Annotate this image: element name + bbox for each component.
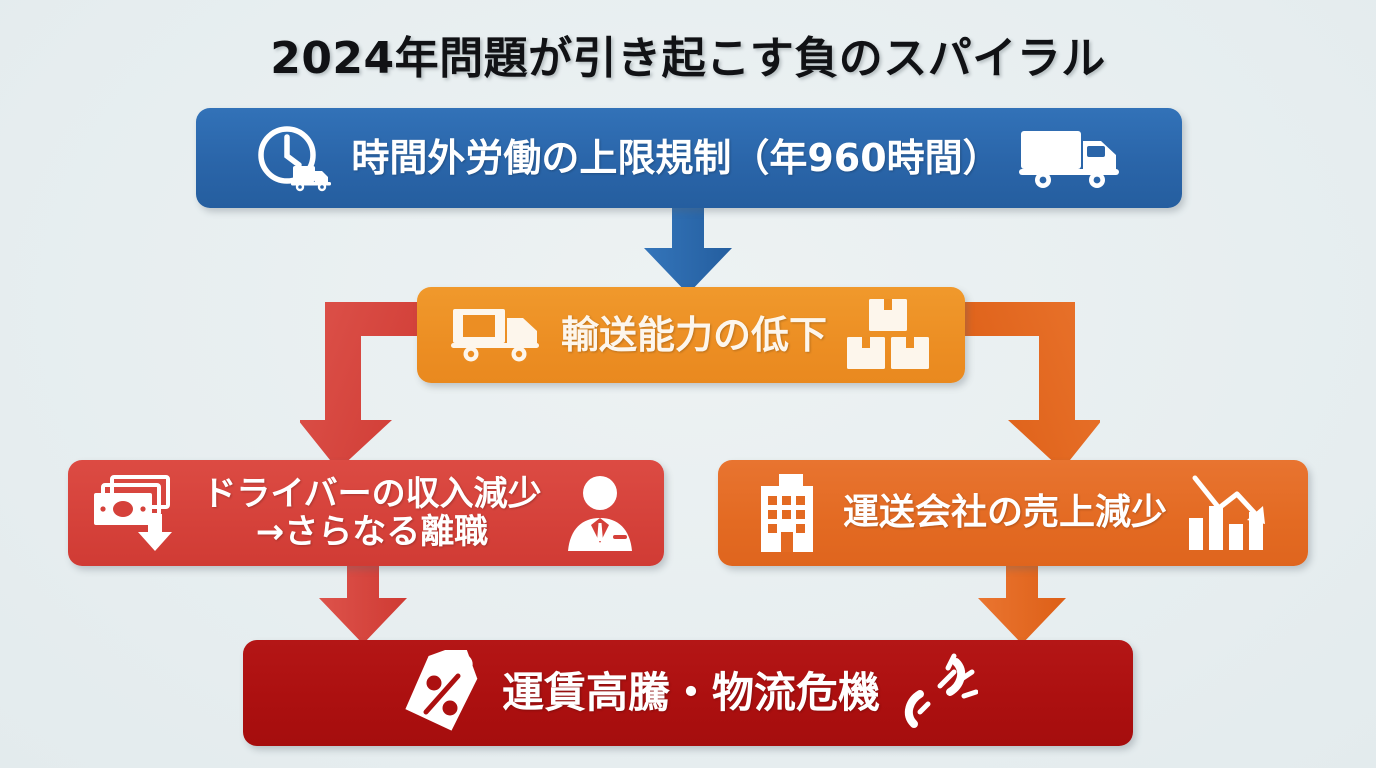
box-truck-icon: [451, 306, 543, 364]
node-transport-capacity-decline[interactable]: 輸送能力の低下: [417, 287, 965, 383]
clock-truck-icon: [255, 124, 333, 192]
broken-chain-icon: [898, 652, 978, 734]
declining-chart-icon: [1185, 474, 1273, 552]
node-label-driver-income-decline: ドライバーの収入減少 →さらなる離職: [202, 475, 541, 551]
node-label-overtime-regulation: 時間外労働の上限規制（年960時間）: [351, 137, 1000, 180]
node-company-revenue-decline[interactable]: 運送会社の売上減少: [718, 460, 1308, 566]
price-tag-icon: [398, 650, 484, 736]
office-building-icon: [753, 472, 825, 554]
node-overtime-regulation[interactable]: 時間外労働の上限規制（年960時間）: [196, 108, 1182, 208]
node-label-transport-capacity-decline: 輸送能力の低下: [561, 314, 827, 357]
infographic-canvas: 2024年問題が引き起こす負のスパイラル: [0, 0, 1376, 768]
packages-icon: [845, 297, 931, 373]
node-label-freight-cost-logistics-crisis: 運賃高騰・物流危機: [502, 669, 880, 716]
arrow-regulation-to-capacity: [628, 198, 748, 298]
node-freight-cost-logistics-crisis[interactable]: 運賃高騰・物流危機: [243, 640, 1133, 746]
arrow-income-to-crisis: [303, 552, 423, 648]
truck-icon: [1019, 127, 1123, 189]
arrow-revenue-to-crisis: [962, 552, 1082, 648]
page-title: 2024年問題が引き起こす負のスパイラル: [0, 22, 1376, 86]
money-down-icon: [92, 472, 184, 554]
node-driver-income-decline[interactable]: ドライバーの収入減少 →さらなる離職: [68, 460, 664, 566]
node-label-company-revenue-decline: 運送会社の売上減少: [843, 493, 1167, 533]
driver-person-icon: [560, 473, 640, 553]
